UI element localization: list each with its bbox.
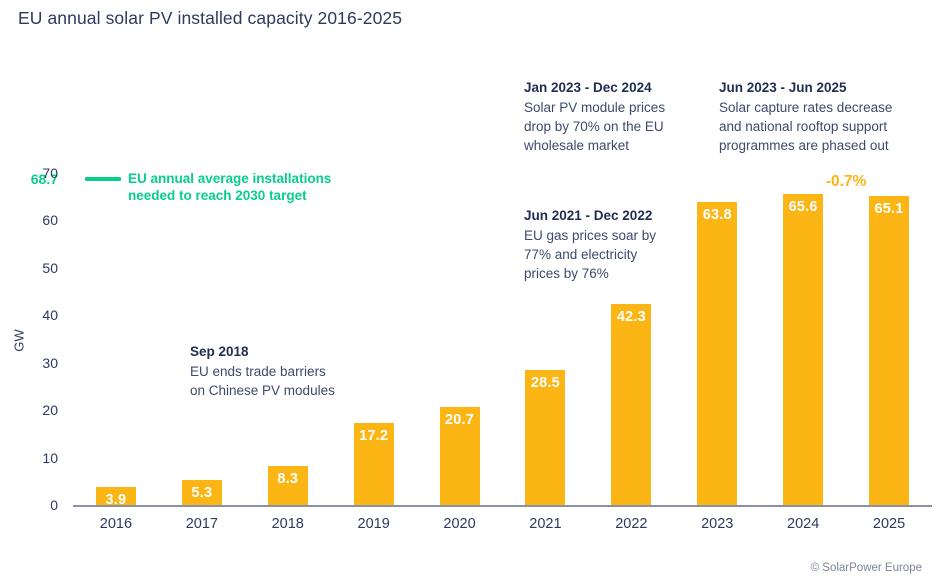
bar-2025[interactable] [869, 196, 909, 505]
plot-area: GW 68.7 EU annual average installations … [0, 0, 940, 584]
bar-value-2021: 28.5 [515, 375, 575, 391]
bar-value-2016: 3.9 [86, 492, 146, 508]
delta-badge: -0.7% [786, 173, 906, 191]
y-tick-label-10: 10 [14, 451, 58, 465]
y-tick-label-60: 60 [14, 213, 58, 227]
x-tick-label-2022: 2022 [591, 516, 671, 532]
target-line-caption-line2: needed to reach 2030 target [128, 187, 331, 204]
annotation-line: 77% and electricity [524, 245, 656, 264]
annotation-sep-2018: Sep 2018 EU ends trade barriers on Chine… [190, 342, 335, 400]
x-tick-label-2024: 2024 [763, 516, 843, 532]
y-tick-label-50: 50 [14, 261, 58, 275]
annotation-line: drop by 70% on the EU [524, 117, 665, 136]
target-line-caption-line1: EU annual average installations [128, 170, 331, 187]
annotation-line: programmes are phased out [719, 136, 892, 155]
annotation-body: Solar capture rates decrease and nationa… [719, 98, 892, 155]
x-tick-label-2021: 2021 [505, 516, 585, 532]
annotation-title: Sep 2018 [190, 342, 335, 361]
x-tick-label-2020: 2020 [420, 516, 500, 532]
annotation-line: Solar PV module prices [524, 98, 665, 117]
y-tick-label-70: 70 [14, 166, 58, 180]
y-tick-label-0: 0 [14, 498, 58, 512]
annotation-body: Solar PV module prices drop by 70% on th… [524, 98, 665, 155]
bar-value-2017: 5.3 [172, 485, 232, 501]
x-tick-label-2018: 2018 [248, 516, 328, 532]
annotation-body: EU ends trade barriers on Chinese PV mod… [190, 362, 335, 400]
bar-2023[interactable] [697, 202, 737, 505]
annotation-line: EU ends trade barriers [190, 362, 335, 381]
bar-value-2024: 65.6 [773, 199, 833, 215]
annotation-body: EU gas prices soar by 77% and electricit… [524, 226, 656, 283]
y-tick-label-20: 20 [14, 403, 58, 417]
annotation-jun-2023-jun-2025: Jun 2023 - Jun 2025 Solar capture rates … [719, 78, 892, 155]
annotation-jan-2023-dec-2024: Jan 2023 - Dec 2024 Solar PV module pric… [524, 78, 665, 155]
bar-2024[interactable] [783, 194, 823, 505]
annotation-line: on Chinese PV modules [190, 381, 335, 400]
bar-value-2022: 42.3 [601, 309, 661, 325]
annotation-line: and national rooftop support [719, 117, 892, 136]
y-tick-label-40: 40 [14, 308, 58, 322]
bar-value-2018: 8.3 [258, 471, 318, 487]
x-tick-label-2016: 2016 [76, 516, 156, 532]
annotation-line: prices by 76% [524, 264, 656, 283]
bar-value-2025: 65.1 [859, 201, 919, 217]
chart-root: EU annual solar PV installed capacity 20… [0, 0, 940, 584]
x-tick-label-2017: 2017 [162, 516, 242, 532]
annotation-line: Solar capture rates decrease [719, 98, 892, 117]
bar-value-2020: 20.7 [430, 412, 490, 428]
annotation-line: wholesale market [524, 136, 665, 155]
annotation-line: EU gas prices soar by [524, 226, 656, 245]
bar-value-2023: 63.8 [687, 207, 747, 223]
copyright-credit: © SolarPower Europe [811, 562, 922, 574]
x-axis-line [73, 505, 932, 507]
annotation-title: Jun 2021 - Dec 2022 [524, 206, 656, 225]
target-line-marker [85, 177, 121, 181]
annotation-title: Jun 2023 - Jun 2025 [719, 78, 892, 97]
y-axis-title: GW [12, 329, 27, 351]
target-line-caption: EU annual average installations needed t… [128, 170, 331, 204]
x-tick-label-2023: 2023 [677, 516, 757, 532]
annotation-title: Jan 2023 - Dec 2024 [524, 78, 665, 97]
annotation-jun-2021-dec-2022: Jun 2021 - Dec 2022 EU gas prices soar b… [524, 206, 656, 283]
x-tick-label-2019: 2019 [334, 516, 414, 532]
bar-value-2019: 17.2 [344, 428, 404, 444]
y-tick-label-30: 30 [14, 356, 58, 370]
x-tick-label-2025: 2025 [849, 516, 929, 532]
bar-2022[interactable] [611, 304, 651, 505]
